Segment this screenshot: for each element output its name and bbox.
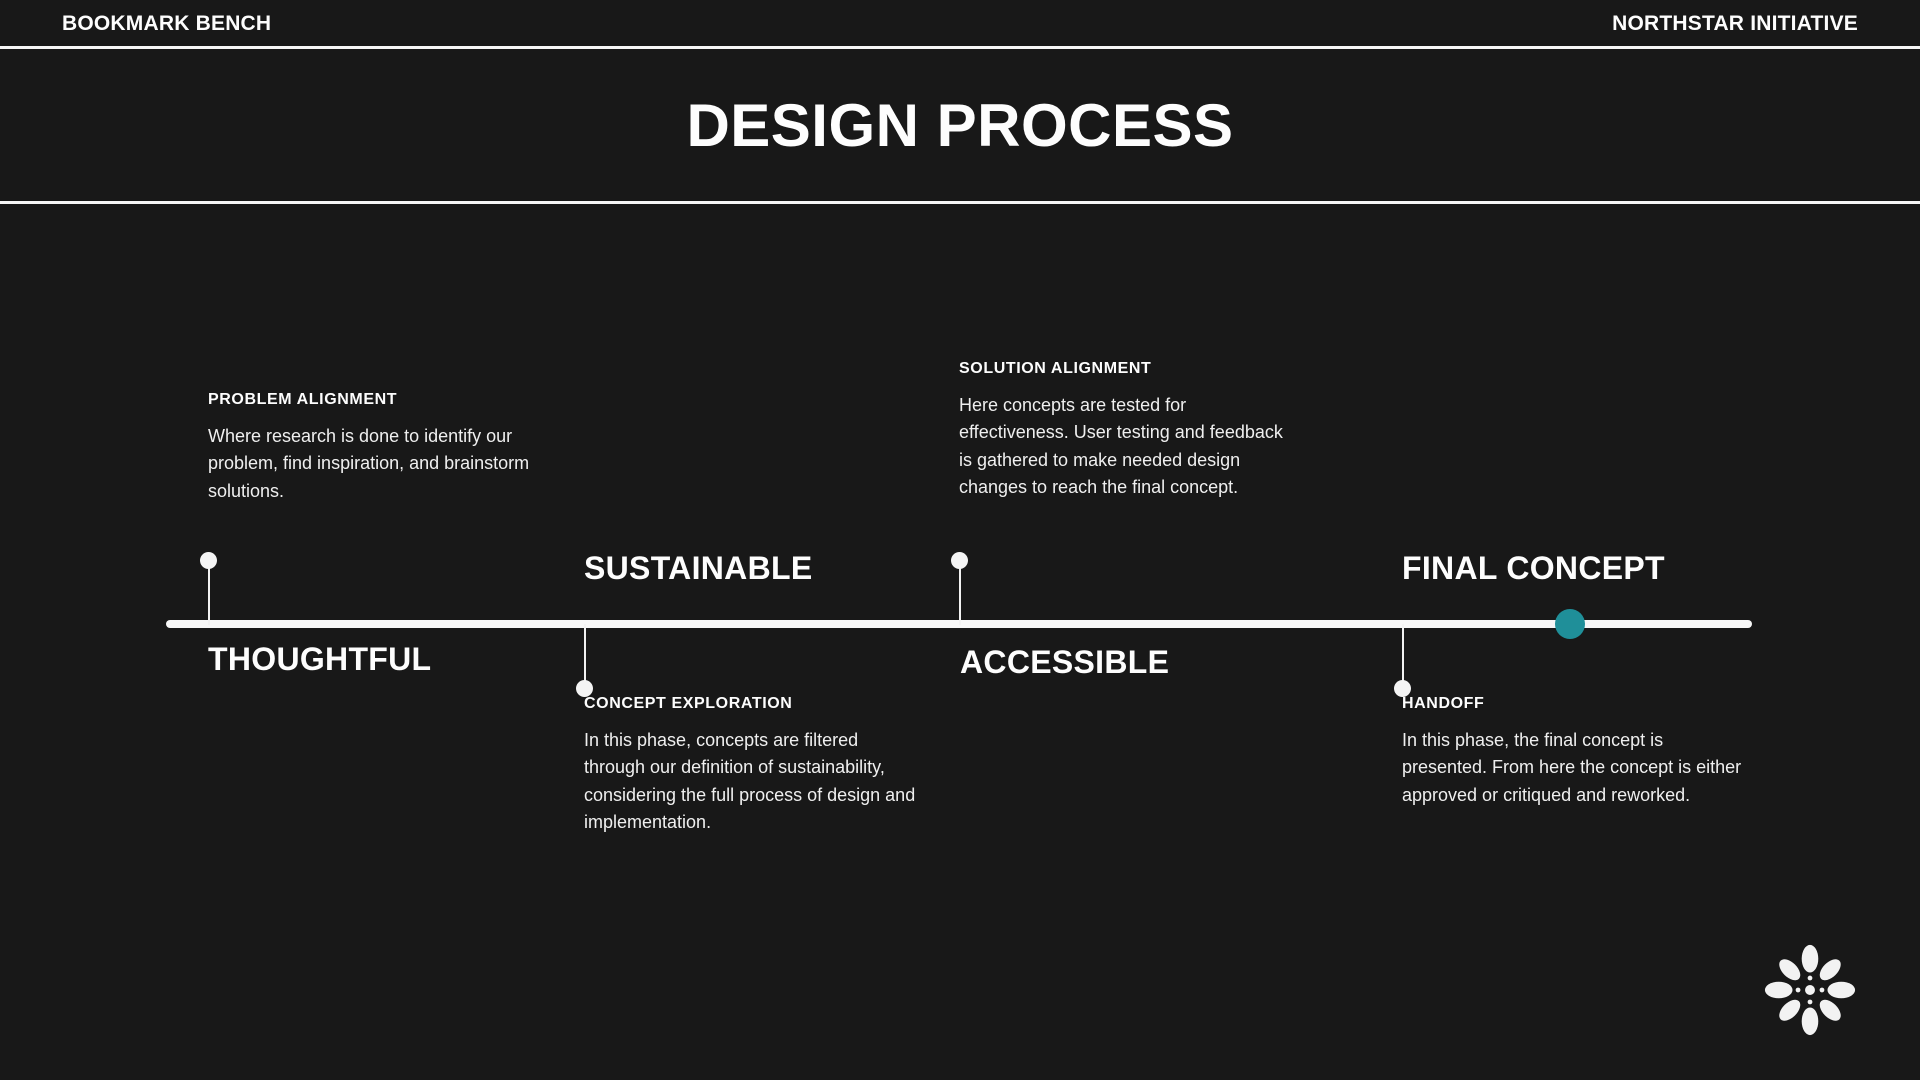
timeline-stem-solution-alignment <box>959 563 961 625</box>
brand-label-left: BOOKMARK BENCH <box>62 12 271 36</box>
phase-title: CONCEPT EXPLORATION <box>584 695 924 713</box>
pillar-thoughtful: THOUGHTFUL <box>208 641 431 678</box>
phase-title: SOLUTION ALIGNMENT <box>959 360 1299 378</box>
phase-block-problem-alignment: PROBLEM ALIGNMENT Where research is done… <box>208 391 560 505</box>
timeline-node-solution-alignment[interactable] <box>951 552 968 569</box>
top-bar: BOOKMARK BENCH NORTHSTAR INITIATIVE <box>0 0 1920 48</box>
phase-body: Where research is done to identify our p… <box>208 423 560 505</box>
phase-body: In this phase, the final concept is pres… <box>1402 727 1742 809</box>
phase-block-concept-exploration: CONCEPT EXPLORATION In this phase, conce… <box>584 695 924 836</box>
phase-block-handoff: HANDOFF In this phase, the final concept… <box>1402 695 1742 809</box>
timeline-active-marker[interactable] <box>1555 609 1585 639</box>
timeline-node-problem-alignment[interactable] <box>200 552 217 569</box>
title-band: DESIGN PROCESS <box>0 49 1920 201</box>
timeline-stem-concept-exploration <box>584 624 586 688</box>
timeline-stem-handoff <box>1402 624 1404 688</box>
pillar-sustainable: SUSTAINABLE <box>584 550 813 587</box>
pillar-final-concept: FINAL CONCEPT <box>1402 550 1665 587</box>
timeline-stage: THOUGHTFUL SUSTAINABLE ACCESSIBLE FINAL … <box>0 201 1920 1080</box>
phase-body: Here concepts are tested for effectivene… <box>959 392 1299 501</box>
brand-label-right: NORTHSTAR INITIATIVE <box>1612 12 1858 36</box>
page-title: DESIGN PROCESS <box>686 91 1233 160</box>
pillar-accessible: ACCESSIBLE <box>960 644 1169 681</box>
timeline-stem-problem-alignment <box>208 563 210 625</box>
phase-body: In this phase, concepts are filtered thr… <box>584 727 924 836</box>
phase-block-solution-alignment: SOLUTION ALIGNMENT Here concepts are tes… <box>959 360 1299 501</box>
phase-title: PROBLEM ALIGNMENT <box>208 391 560 409</box>
flower-logo <box>1764 944 1856 1036</box>
phase-title: HANDOFF <box>1402 695 1742 713</box>
